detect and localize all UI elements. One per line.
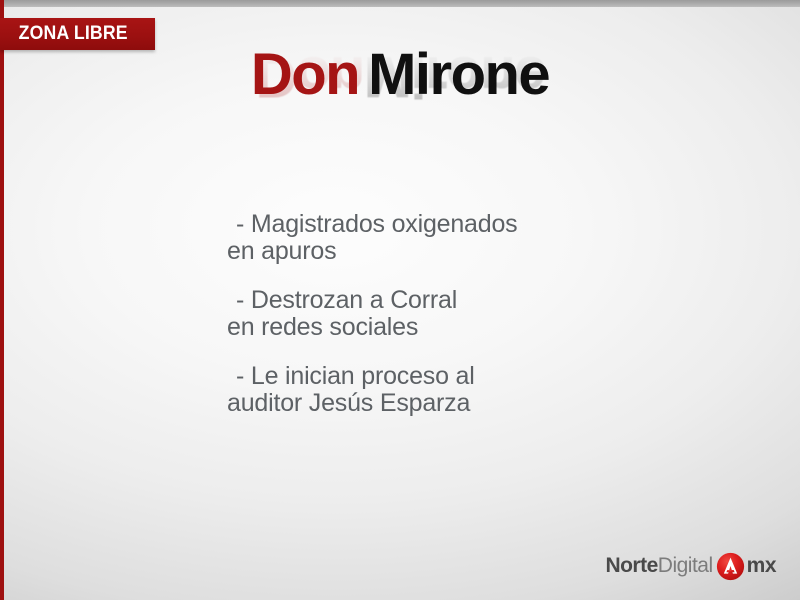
headline-list: - Magistrados oxigenados en apuros - Des… (236, 212, 656, 416)
zona-libre-slide: ZONA LIBRE DonMirone DonMirone - Magistr… (0, 0, 800, 600)
title-block: DonMirone DonMirone (0, 46, 800, 163)
logo-text-mx: mx (747, 554, 776, 578)
headline-line-2: auditor Jesús Esparza (227, 391, 656, 416)
logo-text-norte: Norte (605, 554, 657, 578)
logo-text-digital: Digital (658, 554, 713, 578)
headline-line-1: - Magistrados oxigenados (236, 212, 656, 237)
headline-item: - Le inician proceso al auditor Jesús Es… (236, 364, 656, 416)
headline-item: - Destrozan a Corral en redes sociales (236, 288, 656, 340)
headline-line-2: en redes sociales (227, 315, 656, 340)
page-title-reflection: DonMirone (0, 47, 800, 105)
title-reflection-word-mirone: Mirone (364, 44, 545, 109)
top-edge-strip (0, 0, 800, 7)
norte-digital-logo: Norte Digital mx (605, 552, 776, 580)
title-reflection-word-don: Don (255, 44, 363, 109)
red-circle-triangle-icon (716, 552, 745, 581)
headline-line-1: - Destrozan a Corral (236, 288, 656, 313)
section-tab-label: ZONA LIBRE (0, 23, 128, 45)
headline-line-1: - Le inician proceso al (236, 364, 656, 389)
headline-item: - Magistrados oxigenados en apuros (236, 212, 656, 264)
headline-line-2: en apuros (227, 239, 656, 264)
